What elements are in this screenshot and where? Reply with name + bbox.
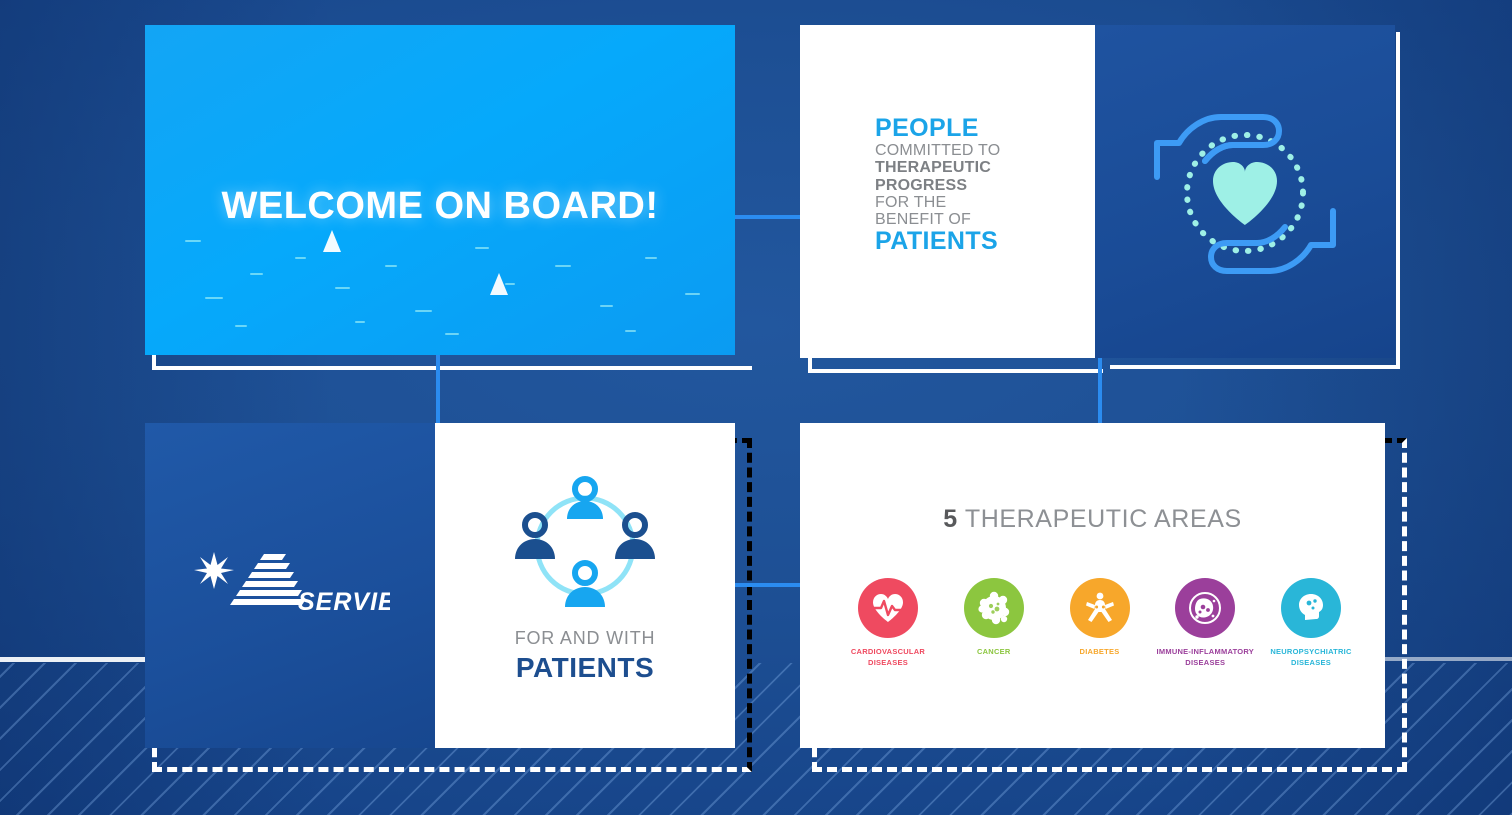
patients-line-1: FOR AND WITH	[435, 628, 735, 649]
area-item-neuropsychiatric[interactable]: NEUROPSYCHIATRIC DISEASES	[1259, 578, 1363, 669]
people-line-6: BENEFIT OF	[875, 211, 1000, 228]
area-item-immune-inflammatory[interactable]: IMMUNE-INFLAMMATORY DISEASES	[1153, 578, 1257, 669]
for-and-with-patients-panel[interactable]: FOR AND WITH PATIENTS	[435, 423, 735, 748]
servier-wordmark: SERVIER	[298, 588, 390, 616]
connector-welcome-down	[436, 355, 440, 425]
area-item-cancer[interactable]: CANCER	[942, 578, 1046, 669]
people-statement: PEOPLE COMMITTED TO THERAPEUTIC PROGRESS…	[875, 115, 1000, 255]
sailboat-icon	[323, 230, 341, 252]
areas-title-text: THERAPEUTIC AREAS	[965, 505, 1242, 533]
star-burst-icon	[194, 552, 234, 589]
immune-cell-icon	[1175, 578, 1235, 638]
area-item-cardiovascular[interactable]: CARDIOVASCULAR DISEASES	[836, 578, 940, 669]
areas-list: CARDIOVASCULAR DISEASES	[836, 578, 1363, 669]
area-label-diabetes: DIABETES	[1048, 647, 1152, 658]
connector-patients-to-areas	[735, 583, 803, 587]
connector-welcome-to-people	[735, 215, 805, 219]
therapeutic-areas-card[interactable]: 5 THERAPEUTIC AREAS CARDIOVASCULAR DISEA…	[800, 423, 1385, 748]
head-brain-icon	[1281, 578, 1341, 638]
welcome-panel[interactable]: WELCOME ON BOARD!	[145, 25, 735, 355]
hands-heart-panel[interactable]	[1095, 25, 1395, 358]
people-line-7: PATIENTS	[875, 228, 1000, 255]
area-item-diabetes[interactable]: DIABETES	[1048, 578, 1152, 669]
people-network-icon	[435, 451, 735, 651]
hands-holding-heart-icon	[1095, 25, 1395, 358]
people-line-4: PROGRESS	[875, 177, 1000, 194]
areas-title: 5 THERAPEUTIC AREAS	[800, 505, 1385, 534]
people-line-1: PEOPLE	[875, 115, 1000, 142]
connector-hands-down	[1098, 358, 1102, 426]
people-card[interactable]: PEOPLE COMMITTED TO THERAPEUTIC PROGRESS…	[800, 25, 1095, 358]
welcome-title: WELCOME ON BOARD!	[145, 185, 735, 228]
sailboat-icon	[490, 273, 508, 295]
people-line-2: COMMITTED TO	[875, 142, 1000, 159]
area-label-immune-inflammatory: IMMUNE-INFLAMMATORY DISEASES	[1153, 647, 1257, 669]
area-label-cardiovascular: CARDIOVASCULAR DISEASES	[836, 647, 940, 669]
heart-pulse-icon	[858, 578, 918, 638]
servier-logo: SERVIER	[190, 548, 390, 628]
people-line-3: THERAPEUTIC	[875, 159, 1000, 176]
areas-count: 5	[943, 505, 958, 533]
patients-statement: FOR AND WITH PATIENTS	[435, 628, 735, 684]
cancer-cell-icon	[964, 578, 1024, 638]
patients-line-2: PATIENTS	[435, 652, 735, 684]
area-label-neuropsychiatric: NEUROPSYCHIATRIC DISEASES	[1259, 647, 1363, 669]
people-line-5: FOR THE	[875, 194, 1000, 211]
human-figure-icon	[1070, 578, 1130, 638]
area-label-cancer: CANCER	[942, 647, 1046, 658]
servier-logo-panel[interactable]: SERVIER	[145, 423, 435, 748]
